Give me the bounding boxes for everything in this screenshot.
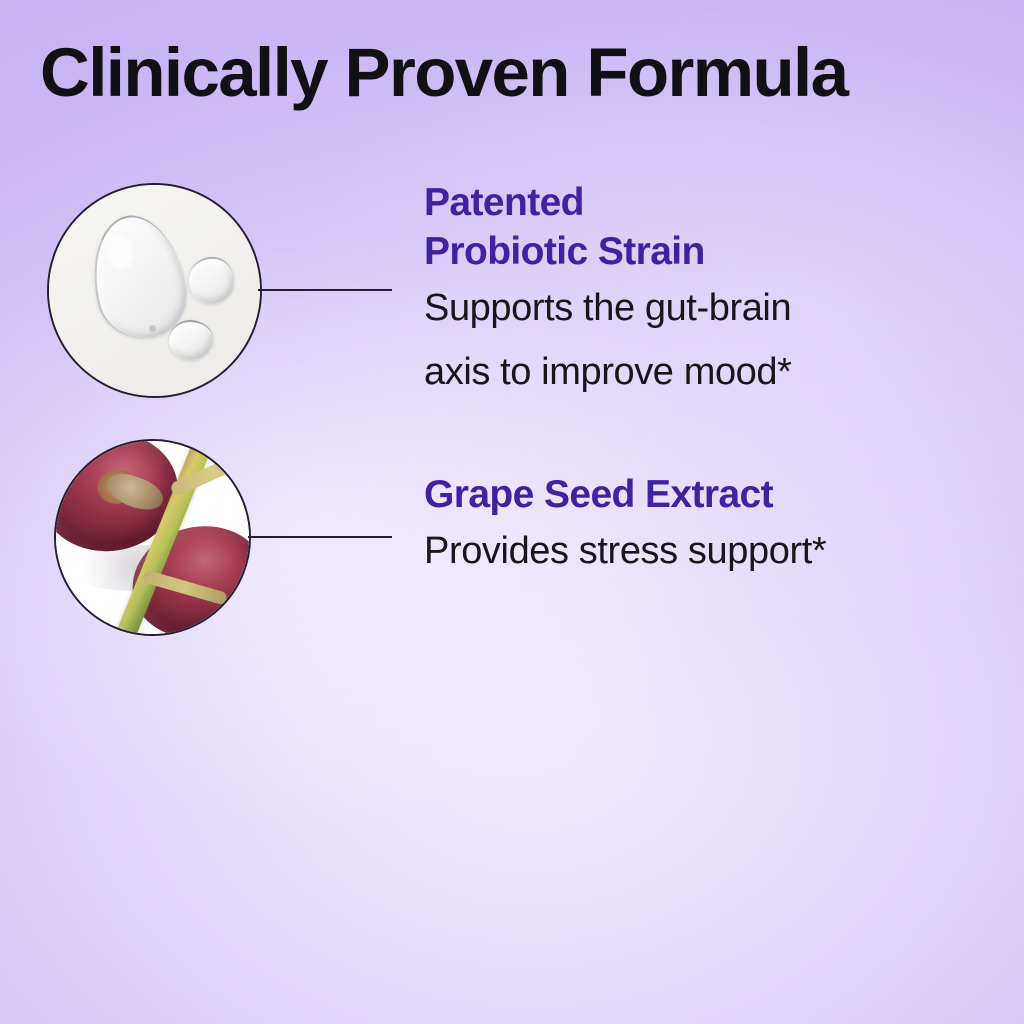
connector-line-feature-1 [258, 289, 392, 291]
feature-heading-line-1: Grape Seed Extract [424, 470, 826, 519]
small-droplet-icon-1 [189, 257, 234, 304]
feature-body-line-2: axis to improve mood* [424, 340, 792, 404]
feature-heading-line-1: Patented [424, 178, 792, 227]
connector-line-feature-2 [248, 536, 392, 538]
small-droplet-icon-2 [169, 320, 213, 360]
droplet-highlight-dot [149, 325, 156, 332]
feature-block-grape-seed-extract: Grape Seed Extract Provides stress suppo… [424, 470, 826, 583]
infographic-canvas: Clinically Proven Formula Patented Probi… [0, 0, 1024, 1024]
liquid-droplets-photo [47, 183, 262, 398]
feature-heading-line-2: Probiotic Strain [424, 227, 792, 276]
feature-body-line-1: Provides stress support* [424, 519, 826, 583]
page-title: Clinically Proven Formula [40, 38, 1000, 107]
red-grapes-photo [54, 439, 251, 636]
grape-scene [56, 441, 249, 634]
feature-body-line-1: Supports the gut-brain [424, 276, 792, 340]
feature-block-patented-probiotic-strain: Patented Probiotic Strain Supports the g… [424, 178, 792, 404]
droplet-scene [49, 185, 260, 396]
